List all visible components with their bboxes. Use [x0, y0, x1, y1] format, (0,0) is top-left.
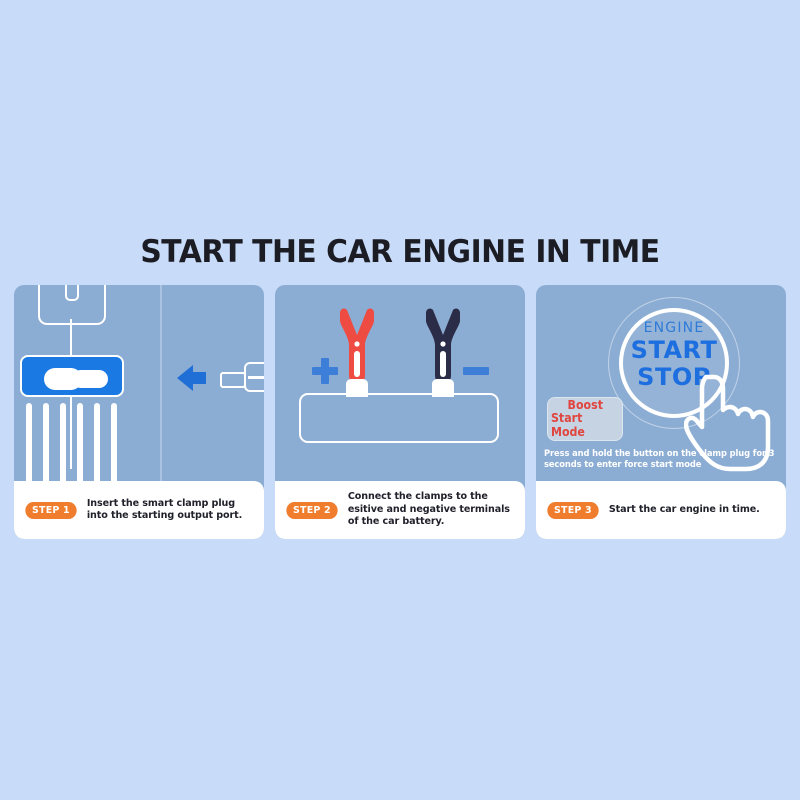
pointing-hand-icon: [684, 373, 780, 477]
plug-detail-line: [248, 376, 264, 379]
step-panel-3: ENGINE START STOP Boost Start Mode Press…: [536, 285, 786, 539]
car-battery-icon: [299, 393, 499, 443]
panel-1-illustration: [14, 285, 264, 481]
step-caption-3: Start the car engine in time.: [609, 504, 760, 516]
minus-sign-icon: [463, 367, 489, 375]
start-label: START: [619, 338, 729, 362]
step-caption-1: Insert the smart clamp plug into the sta…: [87, 498, 256, 523]
prong-icon: [77, 403, 83, 481]
prong-icon: [60, 403, 66, 481]
arrow-head: [177, 365, 193, 391]
prong-icon: [43, 403, 49, 481]
boost-label-line1: Boost: [567, 399, 602, 412]
step-panel-1: STEP 1 Insert the smart clamp plug into …: [14, 285, 264, 539]
plus-sign-icon: [312, 358, 338, 384]
step-caption-2: Connect the clamps to the esitive and ne…: [348, 491, 517, 528]
engine-label: ENGINE: [619, 321, 729, 335]
output-port-icon: [20, 355, 124, 397]
panel-1-caption: STEP 1 Insert the smart clamp plug into …: [14, 481, 264, 539]
prong-icon: [94, 403, 100, 481]
step-badge-2: STEP 2: [286, 502, 337, 519]
port-slot-right-icon: [72, 370, 108, 388]
red-clamp-icon: [335, 307, 379, 385]
steps-row: STEP 1 Insert the smart clamp plug into …: [14, 285, 786, 539]
prong-icon: [26, 403, 32, 481]
plug-body: [220, 372, 246, 388]
arrow-tail: [192, 372, 206, 384]
page-title: START THE CAR ENGINE IN TIME: [16, 234, 784, 270]
boost-start-mode-badge: Boost Start Mode: [547, 397, 623, 441]
boost-label-line2: Start Mode: [551, 412, 619, 439]
panel-2-caption: STEP 2 Connect the clamps to the esitive…: [275, 481, 525, 539]
prongs-group-icon: [26, 403, 118, 481]
panel-2-illustration: [275, 285, 525, 481]
panel-divider-line: [160, 285, 162, 481]
power-station-handle-icon: [65, 285, 79, 301]
infographic-page: START THE CAR ENGINE IN TIME: [0, 0, 800, 800]
step-badge-3: STEP 3: [547, 502, 598, 519]
step-badge-1: STEP 1: [25, 502, 76, 519]
clamp-plug-connector-icon: [220, 369, 264, 391]
black-clamp-icon: [421, 307, 465, 385]
panel-3-caption: STEP 3 Start the car engine in time.: [536, 481, 786, 539]
panel-3-illustration: ENGINE START STOP Boost Start Mode Press…: [536, 285, 786, 481]
step-panel-2: STEP 2 Connect the clamps to the esitive…: [275, 285, 525, 539]
prong-icon: [111, 403, 117, 481]
